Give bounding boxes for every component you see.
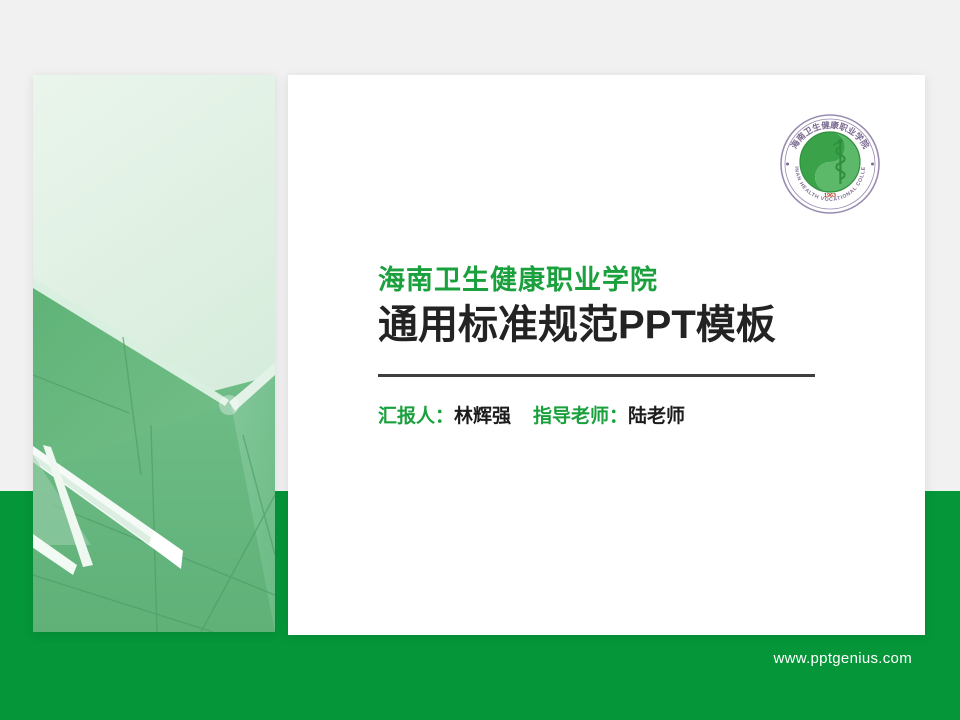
logo-founding-year: 1963 [824,193,836,199]
abstract-green-architecture-photo [33,75,275,632]
presentation-slide: 海南卫生健康职业学院 HAINAN HEALTH VOCATIONAL COLL… [0,0,960,720]
school-name: 海南卫生健康职业学院 [378,264,828,296]
byline: 汇报人：林辉强指导老师：陆老师 [378,405,828,430]
presenter-label: 汇报人： [378,406,454,427]
title-divider [378,374,815,377]
footer-website-url[interactable]: www.pptgenius.com [0,650,912,667]
advisor-label: 指导老师： [533,406,628,427]
cover-photo-panel [33,75,275,632]
title-text-block: 海南卫生健康职业学院 通用标准规范PPT模板 汇报人：林辉强指导老师：陆老师 [378,264,828,430]
hainan-health-vocational-college-seal-icon: 海南卫生健康职业学院 HAINAN HEALTH VOCATIONAL COLL… [778,112,882,216]
presenter-name: 林辉强 [454,406,511,427]
college-logo: 海南卫生健康职业学院 HAINAN HEALTH VOCATIONAL COLL… [778,112,882,216]
page-title: 通用标准规范PPT模板 [378,302,828,348]
advisor-name: 陆老师 [628,406,685,427]
